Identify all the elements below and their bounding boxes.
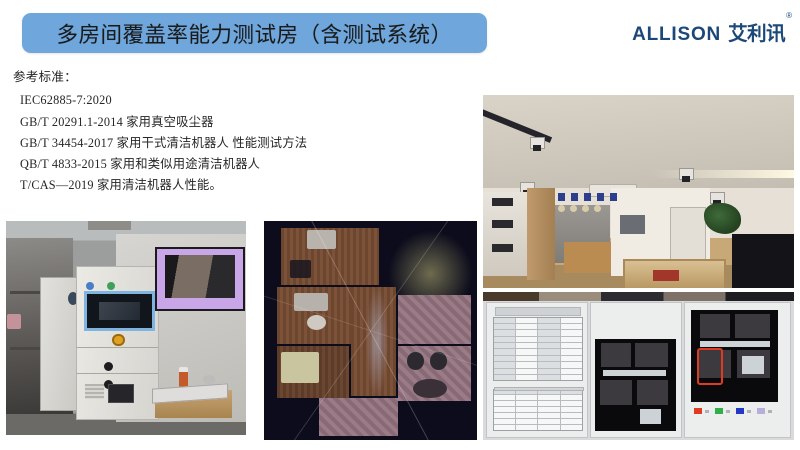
ceiling-camera-icon [679, 168, 694, 180]
missed-area-highlight [697, 348, 724, 385]
beverage-bottle [179, 367, 189, 388]
map-room [635, 343, 667, 367]
map-room [601, 343, 630, 367]
photo-report-screen-scene [483, 292, 794, 440]
map-room-light [742, 356, 765, 374]
wall-artwork [620, 215, 645, 234]
legend-label-missed [705, 410, 710, 413]
reference-standards-heading: 参考标准： [13, 68, 433, 87]
registered-trademark-icon: ® [786, 11, 792, 20]
photo-coverage-map [264, 221, 477, 440]
ceiling-camera-icon [530, 137, 545, 149]
photo-coverage-map-scene [264, 221, 477, 440]
legend-swatch-missed [694, 408, 701, 414]
table-row [494, 425, 582, 430]
storage-bin [7, 314, 20, 330]
brand-logo: ALLISON 艾利讯 ® [632, 14, 792, 44]
ceiling-sign [88, 221, 131, 230]
indicator-lamps [86, 277, 140, 285]
report-main-table [493, 317, 583, 382]
cabinet-viewing-window [84, 291, 155, 330]
standard-item: QB/T 4833-2015 家用和类似用途清洁机器人 [20, 154, 433, 175]
report-sub-table [493, 389, 583, 431]
robot-path-trace [264, 221, 477, 440]
pendant-lights [558, 199, 626, 211]
brand-logo-cjk: 艾利讯 [728, 25, 785, 45]
cove-lighting [651, 170, 794, 178]
coverage-highlight-map [691, 310, 778, 402]
photo-report-screen [483, 292, 794, 440]
standard-item: T/CAS—2019 家用清洁机器人性能。 [20, 175, 433, 196]
legend-swatch-unreached [757, 408, 764, 414]
coverage-analysis-map [595, 339, 676, 431]
standard-item: GB/T 34454-2017 家用干式清洁机器人 性能测试方法 [20, 133, 433, 154]
standard-item: IEC62885-7:2020 [20, 90, 433, 111]
screen-top-strip [483, 292, 794, 301]
table-row [494, 375, 582, 380]
emergency-stop-button[interactable] [112, 334, 124, 346]
photo-test-house-scene [483, 95, 794, 288]
legend-label-covered [726, 410, 731, 413]
test-platform-box [623, 259, 727, 288]
reference-standards: 参考标准： IEC62885-7:2020 GB/T 20291.1-2014 … [13, 68, 433, 196]
photo-test-house-interior [483, 95, 794, 288]
test-equipment-cabinet [76, 266, 160, 420]
slide-title-banner: 多房间覆盖率能力测试房（含测试系统） [22, 13, 487, 53]
dining-table-and-chairs [564, 242, 611, 273]
coverage-legend [694, 407, 775, 414]
cabinet-panel-seam [77, 373, 159, 374]
map-room [637, 380, 668, 406]
ventilation-grille [85, 384, 105, 399]
wood-partition [527, 188, 555, 281]
map-room [735, 314, 770, 338]
legend-label-unreached [768, 410, 773, 413]
standard-item: GB/T 20291.1-2014 家用真空吸尘器 [20, 112, 433, 133]
wall-television [732, 234, 794, 288]
legend-swatch-repeat [736, 408, 743, 414]
map-corridor [603, 370, 666, 376]
ceiling-camera-icon [710, 192, 725, 204]
map-room [600, 380, 632, 406]
map-room-light [640, 409, 661, 424]
photo-test-cabinet [6, 221, 246, 435]
brand-logo-latin: ALLISON [632, 25, 721, 44]
page-title: 多房间覆盖率能力测试房（含测试系统） [56, 18, 452, 49]
legend-label-repeat [747, 410, 752, 413]
cabinet-panel-seam [77, 347, 159, 348]
mouse-icon [203, 375, 215, 384]
reference-standards-list: IEC62885-7:2020 GB/T 20291.1-2014 家用真空吸尘… [13, 90, 433, 196]
presentation-slide: 多房间覆盖率能力测试房（含测试系统） ALLISON 艾利讯 ® 参考标准： I… [0, 0, 800, 450]
report-table-title [495, 307, 581, 316]
report-table-pane [486, 302, 588, 437]
map-corridor [700, 341, 770, 347]
controller-pc [108, 384, 134, 403]
wall-monitor [155, 247, 245, 311]
legend-swatch-covered [715, 408, 722, 414]
map-room [700, 314, 730, 338]
cabinet-knobs[interactable] [104, 358, 122, 364]
report-sub-table-title [494, 387, 584, 391]
photo-test-cabinet-scene [6, 221, 246, 435]
